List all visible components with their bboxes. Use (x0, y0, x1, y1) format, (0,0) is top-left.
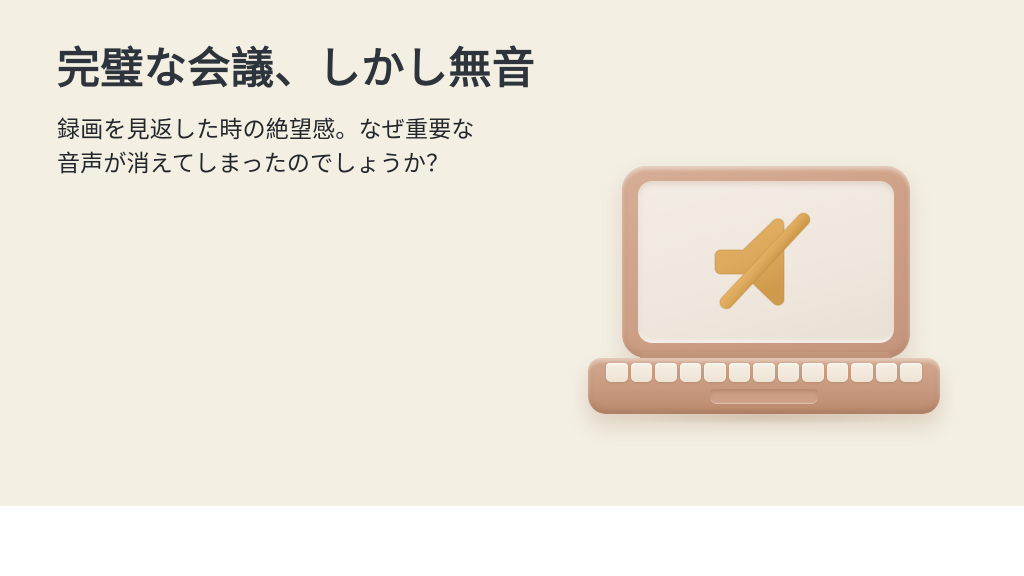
speaker-mute-icon (707, 206, 825, 318)
keyboard-key (631, 363, 653, 382)
keyboard-key (900, 363, 922, 382)
slide-canvas: 完璧な会議、しかし無音 録画を見返した時の絶望感。なぜ重要な 音声が消えてしまっ… (0, 0, 1024, 576)
slide-text-block: 完璧な会議、しかし無音 録画を見返した時の絶望感。なぜ重要な 音声が消えてしまっ… (57, 44, 597, 180)
laptop-key-row (606, 363, 922, 382)
laptop-lid (622, 166, 910, 358)
page-title: 完璧な会議、しかし無音 (57, 44, 597, 95)
laptop-keyboard-deck (588, 358, 940, 414)
laptop-trackpad (710, 389, 818, 404)
keyboard-key (827, 363, 849, 382)
keyboard-key (606, 363, 628, 382)
keyboard-key (729, 363, 751, 382)
keyboard-key (655, 363, 677, 382)
keyboard-key (704, 363, 726, 382)
keyboard-key (753, 363, 775, 382)
laptop-ground-shadow (612, 409, 916, 425)
page-subtitle-line-2: 音声が消えてしまったのでしょうか？ (57, 146, 597, 180)
keyboard-key (802, 363, 824, 382)
keyboard-key (778, 363, 800, 382)
page-subtitle-line-1: 録画を見返した時の絶望感。なぜ重要な (57, 112, 597, 146)
keyboard-key (680, 363, 702, 382)
keyboard-key (851, 363, 873, 382)
keyboard-key (876, 363, 898, 382)
page-subtitle: 録画を見返した時の絶望感。なぜ重要な 音声が消えてしまったのでしょうか？ (57, 95, 597, 180)
muted-laptop-illustration (588, 166, 940, 422)
laptop-screen (638, 181, 894, 343)
